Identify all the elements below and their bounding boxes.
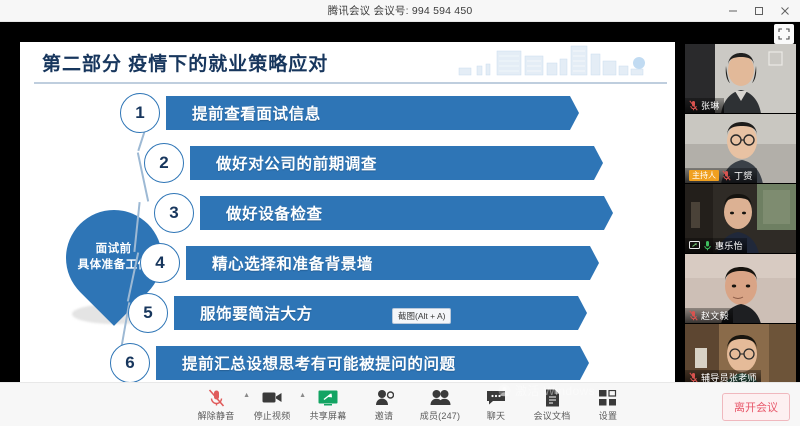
minimize-button[interactable] <box>720 0 746 22</box>
participant-filmstrip[interactable]: ❯ <box>685 44 796 384</box>
screenshot-tooltip: 截图(Alt + A) <box>392 308 451 324</box>
participant-tile[interactable]: 惠乐怡 <box>685 184 796 254</box>
toolbar-invite-button[interactable]: 邀请 <box>356 383 412 426</box>
step-bar: 提前查看面试信息 <box>166 96 570 130</box>
participant-name: 丁赟 <box>734 169 753 182</box>
step-number: 4 <box>140 243 180 283</box>
toolbar-label: 邀请 <box>375 409 393 422</box>
step-number: 1 <box>120 93 160 133</box>
invite-person-icon <box>375 388 394 407</box>
connector-3 <box>133 202 140 252</box>
window-title: 腾讯会议 会议号: 994 594 450 <box>328 3 473 18</box>
host-badge: 主持人 <box>689 170 719 182</box>
screen-share-icon <box>318 388 338 407</box>
participant-name: 惠乐怡 <box>715 239 743 252</box>
chat-bubble-icon <box>486 388 506 407</box>
connector-4 <box>127 252 139 301</box>
participant-name: 赵文毅 <box>701 309 729 322</box>
participant-tile[interactable]: 赵文毅 <box>685 254 796 324</box>
close-button[interactable] <box>772 0 798 22</box>
toolbar-share-screen-button[interactable]: 共享屏幕 <box>300 383 356 426</box>
step-text: 精心选择和准备背景墙 <box>212 252 373 274</box>
step-number: 5 <box>128 293 168 333</box>
toolbar-label: 会议文档 <box>534 409 571 422</box>
participant-nameplate: 赵文毅 <box>685 308 733 323</box>
participant-tile[interactable]: 张琳 <box>685 44 796 114</box>
city-skyline-decoration <box>453 42 653 81</box>
step-text: 做好设备检查 <box>226 202 323 224</box>
tencent-meeting-window: 腾讯会议 会议号: 994 594 450 第二部分 疫情下的就业策略应对 <box>0 0 800 426</box>
step-bar: 提前汇总设想思考有可能被提问的问题 <box>156 346 580 380</box>
step-text: 服饰要简洁大方 <box>200 302 313 324</box>
window-controls <box>720 0 798 22</box>
toolbar-label: 设置 <box>599 409 617 422</box>
step-bar: 精心选择和准备背景墙 <box>186 246 590 280</box>
slide-step-list: 提前查看面试信息 1 做好对公司的前期调查 2 做好设备检查 3 <box>20 84 675 382</box>
step-number: 3 <box>154 193 194 233</box>
step-number: 6 <box>110 343 150 382</box>
slide-title: 第二部分 疫情下的就业策略应对 <box>42 49 328 76</box>
step-text: 做好对公司的前期调查 <box>216 152 377 174</box>
toolbar-settings-button[interactable]: 设置 <box>580 383 636 426</box>
toolbar-label: 成员(247) <box>420 409 460 422</box>
shared-slide: 第二部分 疫情下的就业策略应对 <box>20 42 675 382</box>
step-text: 提前汇总设想思考有可能被提问的问题 <box>182 352 456 374</box>
step-text: 提前查看面试信息 <box>192 102 321 124</box>
participants-icon <box>430 388 451 407</box>
screen-share-icon <box>689 241 700 250</box>
step-bar: 做好对公司的前期调查 <box>190 146 594 180</box>
mic-muted-icon <box>689 100 698 111</box>
document-icon <box>545 388 560 407</box>
participant-nameplate: 张琳 <box>685 98 724 113</box>
participant-name: 张琳 <box>701 99 720 112</box>
step-bar: 服饰要简洁大方 <box>174 296 578 330</box>
toolbar-participants-button[interactable]: 成员(247) <box>412 383 468 426</box>
slide-header: 第二部分 疫情下的就业策略应对 <box>20 42 675 84</box>
toolbar-video-button[interactable]: 停止视频 ▲ <box>244 383 300 426</box>
leave-meeting-button[interactable]: 离开会议 <box>722 393 790 421</box>
participant-tile[interactable]: 辅导员张老师 <box>685 324 796 384</box>
step-bar: 做好设备检查 <box>200 196 604 230</box>
participant-nameplate: 惠乐怡 <box>685 238 747 253</box>
toolbar-mute-button[interactable]: 解除静音 ▲ <box>188 383 244 426</box>
maximize-button[interactable] <box>746 0 772 22</box>
toolbar-label: 停止视频 <box>254 409 291 422</box>
toolbar-controls: 解除静音 ▲ 停止视频 ▲ 共享屏幕 邀请 <box>188 383 636 426</box>
toolbar-label: 共享屏幕 <box>310 409 347 422</box>
toolbar-label: 解除静音 <box>198 409 235 422</box>
participant-nameplate: 主持人 丁赟 <box>685 168 757 183</box>
toolbar-documents-button[interactable]: 会议文档 <box>524 383 580 426</box>
toolbar-chat-button[interactable]: 聊天 <box>468 383 524 426</box>
toolbar-label: 聊天 <box>487 409 505 422</box>
microphone-muted-icon <box>208 388 225 407</box>
mic-on-icon <box>703 240 712 251</box>
grid-settings-icon <box>599 388 617 407</box>
camera-icon <box>262 388 282 407</box>
mic-muted-icon <box>689 310 698 321</box>
meeting-stage: 第二部分 疫情下的就业策略应对 <box>0 22 800 382</box>
meeting-toolbar: 解除静音 ▲ 停止视频 ▲ 共享屏幕 邀请 <box>0 382 800 426</box>
fullscreen-icon[interactable] <box>774 24 794 44</box>
mic-muted-icon <box>722 170 731 181</box>
title-bar: 腾讯会议 会议号: 994 594 450 <box>0 0 800 22</box>
participant-tile[interactable]: 主持人 丁赟 <box>685 114 796 184</box>
step-number: 2 <box>144 143 184 183</box>
